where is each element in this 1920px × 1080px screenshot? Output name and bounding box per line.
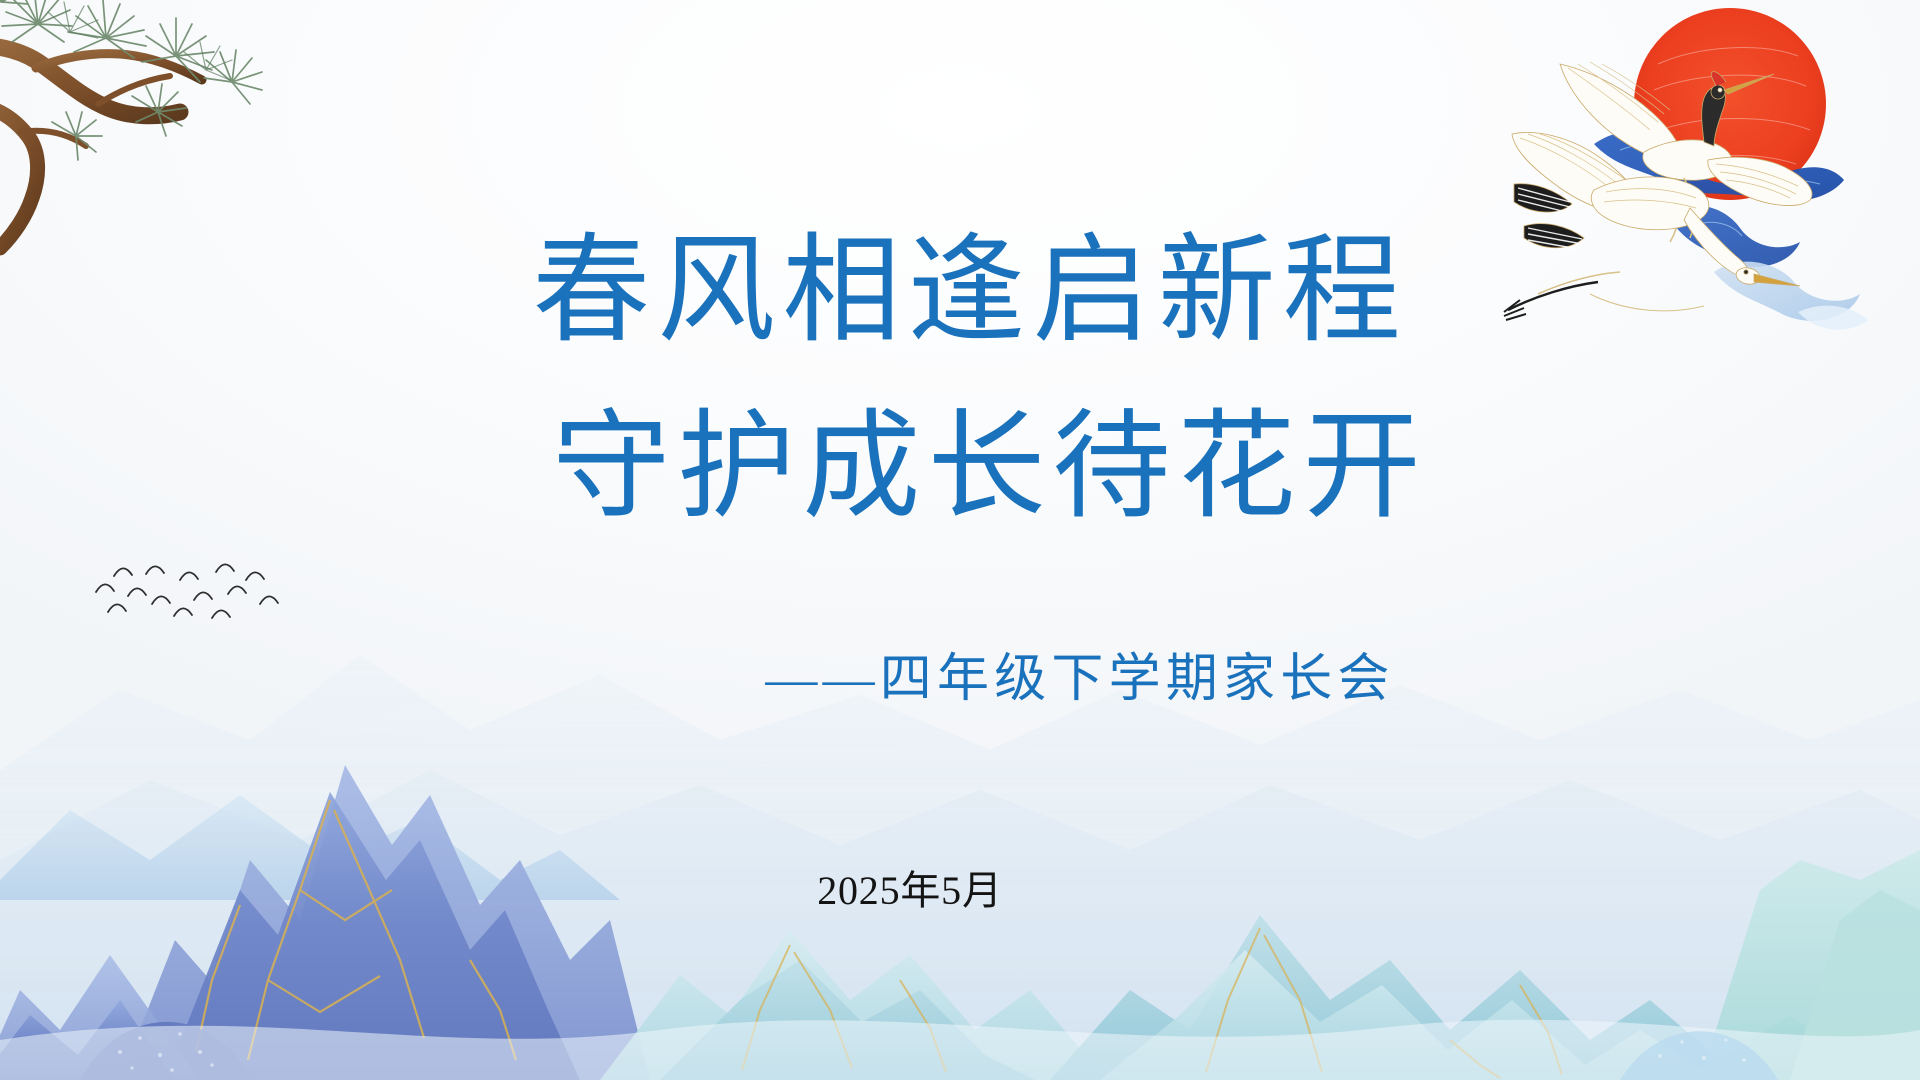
title-line-2: 守护成长待花开 <box>0 408 1920 528</box>
title-line-1: 春风相逢启新程 <box>0 232 1920 352</box>
presentation-slide: 春风相逢启新程 守护成长待花开 ——四年级下学期家长会 2025年5月 <box>0 0 1920 1080</box>
subtitle-text: ——四年级下学期家长会 <box>0 636 1920 711</box>
bird-flock-illustration <box>88 560 338 640</box>
date-text: 2025年5月 <box>0 858 1920 916</box>
